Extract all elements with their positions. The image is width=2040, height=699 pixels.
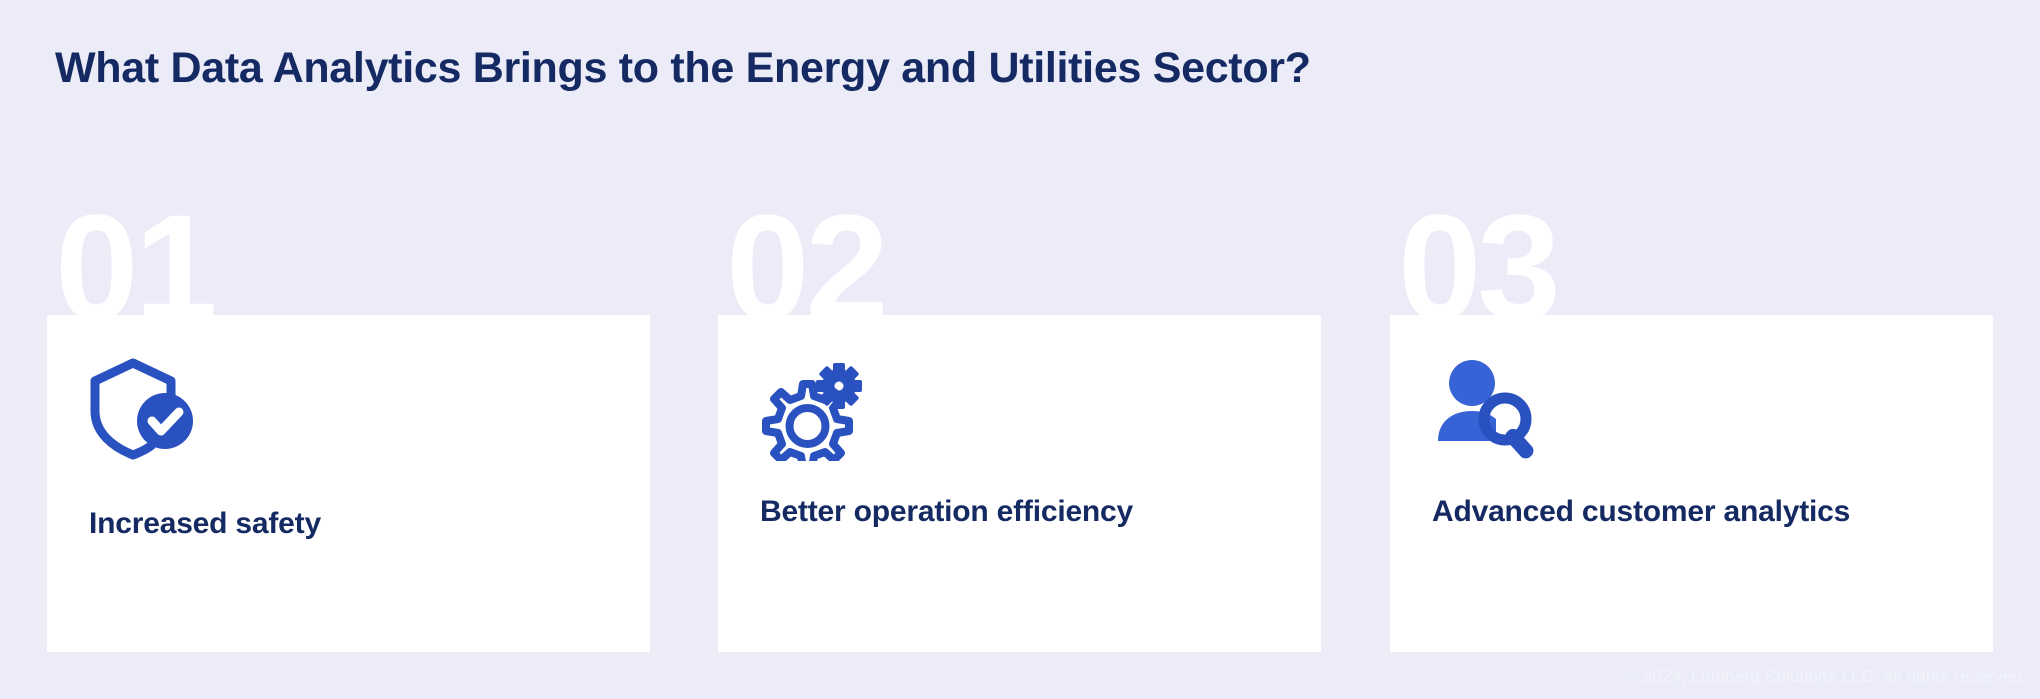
benefit-card-3: 03 Advanced customer analytics (1390, 200, 1993, 652)
page-title: What Data Analytics Brings to the Energy… (55, 44, 1311, 93)
benefit-card-panel-3[interactable]: Advanced customer analytics (1390, 315, 1993, 652)
shield-check-icon (89, 357, 199, 461)
benefit-card-label-3: Advanced customer analytics (1432, 493, 1952, 531)
benefit-card-2: 02 (718, 200, 1321, 652)
copyright-text: © 2024, Lemberg Solutions LLC. All right… (1625, 667, 2022, 687)
gears-icon (760, 357, 870, 461)
benefit-card-panel-2[interactable]: Better operation efficiency (718, 315, 1321, 652)
benefit-card-label-2: Better operation efficiency (760, 493, 1280, 531)
benefit-card-1: 01 Increased safety (47, 200, 650, 652)
benefit-card-panel-1[interactable]: Increased safety (47, 315, 650, 652)
benefit-card-label-1: Increased safety (89, 505, 609, 543)
benefit-cards-row: 01 Increased safety 02 (47, 200, 1993, 652)
user-search-icon (1432, 357, 1542, 461)
